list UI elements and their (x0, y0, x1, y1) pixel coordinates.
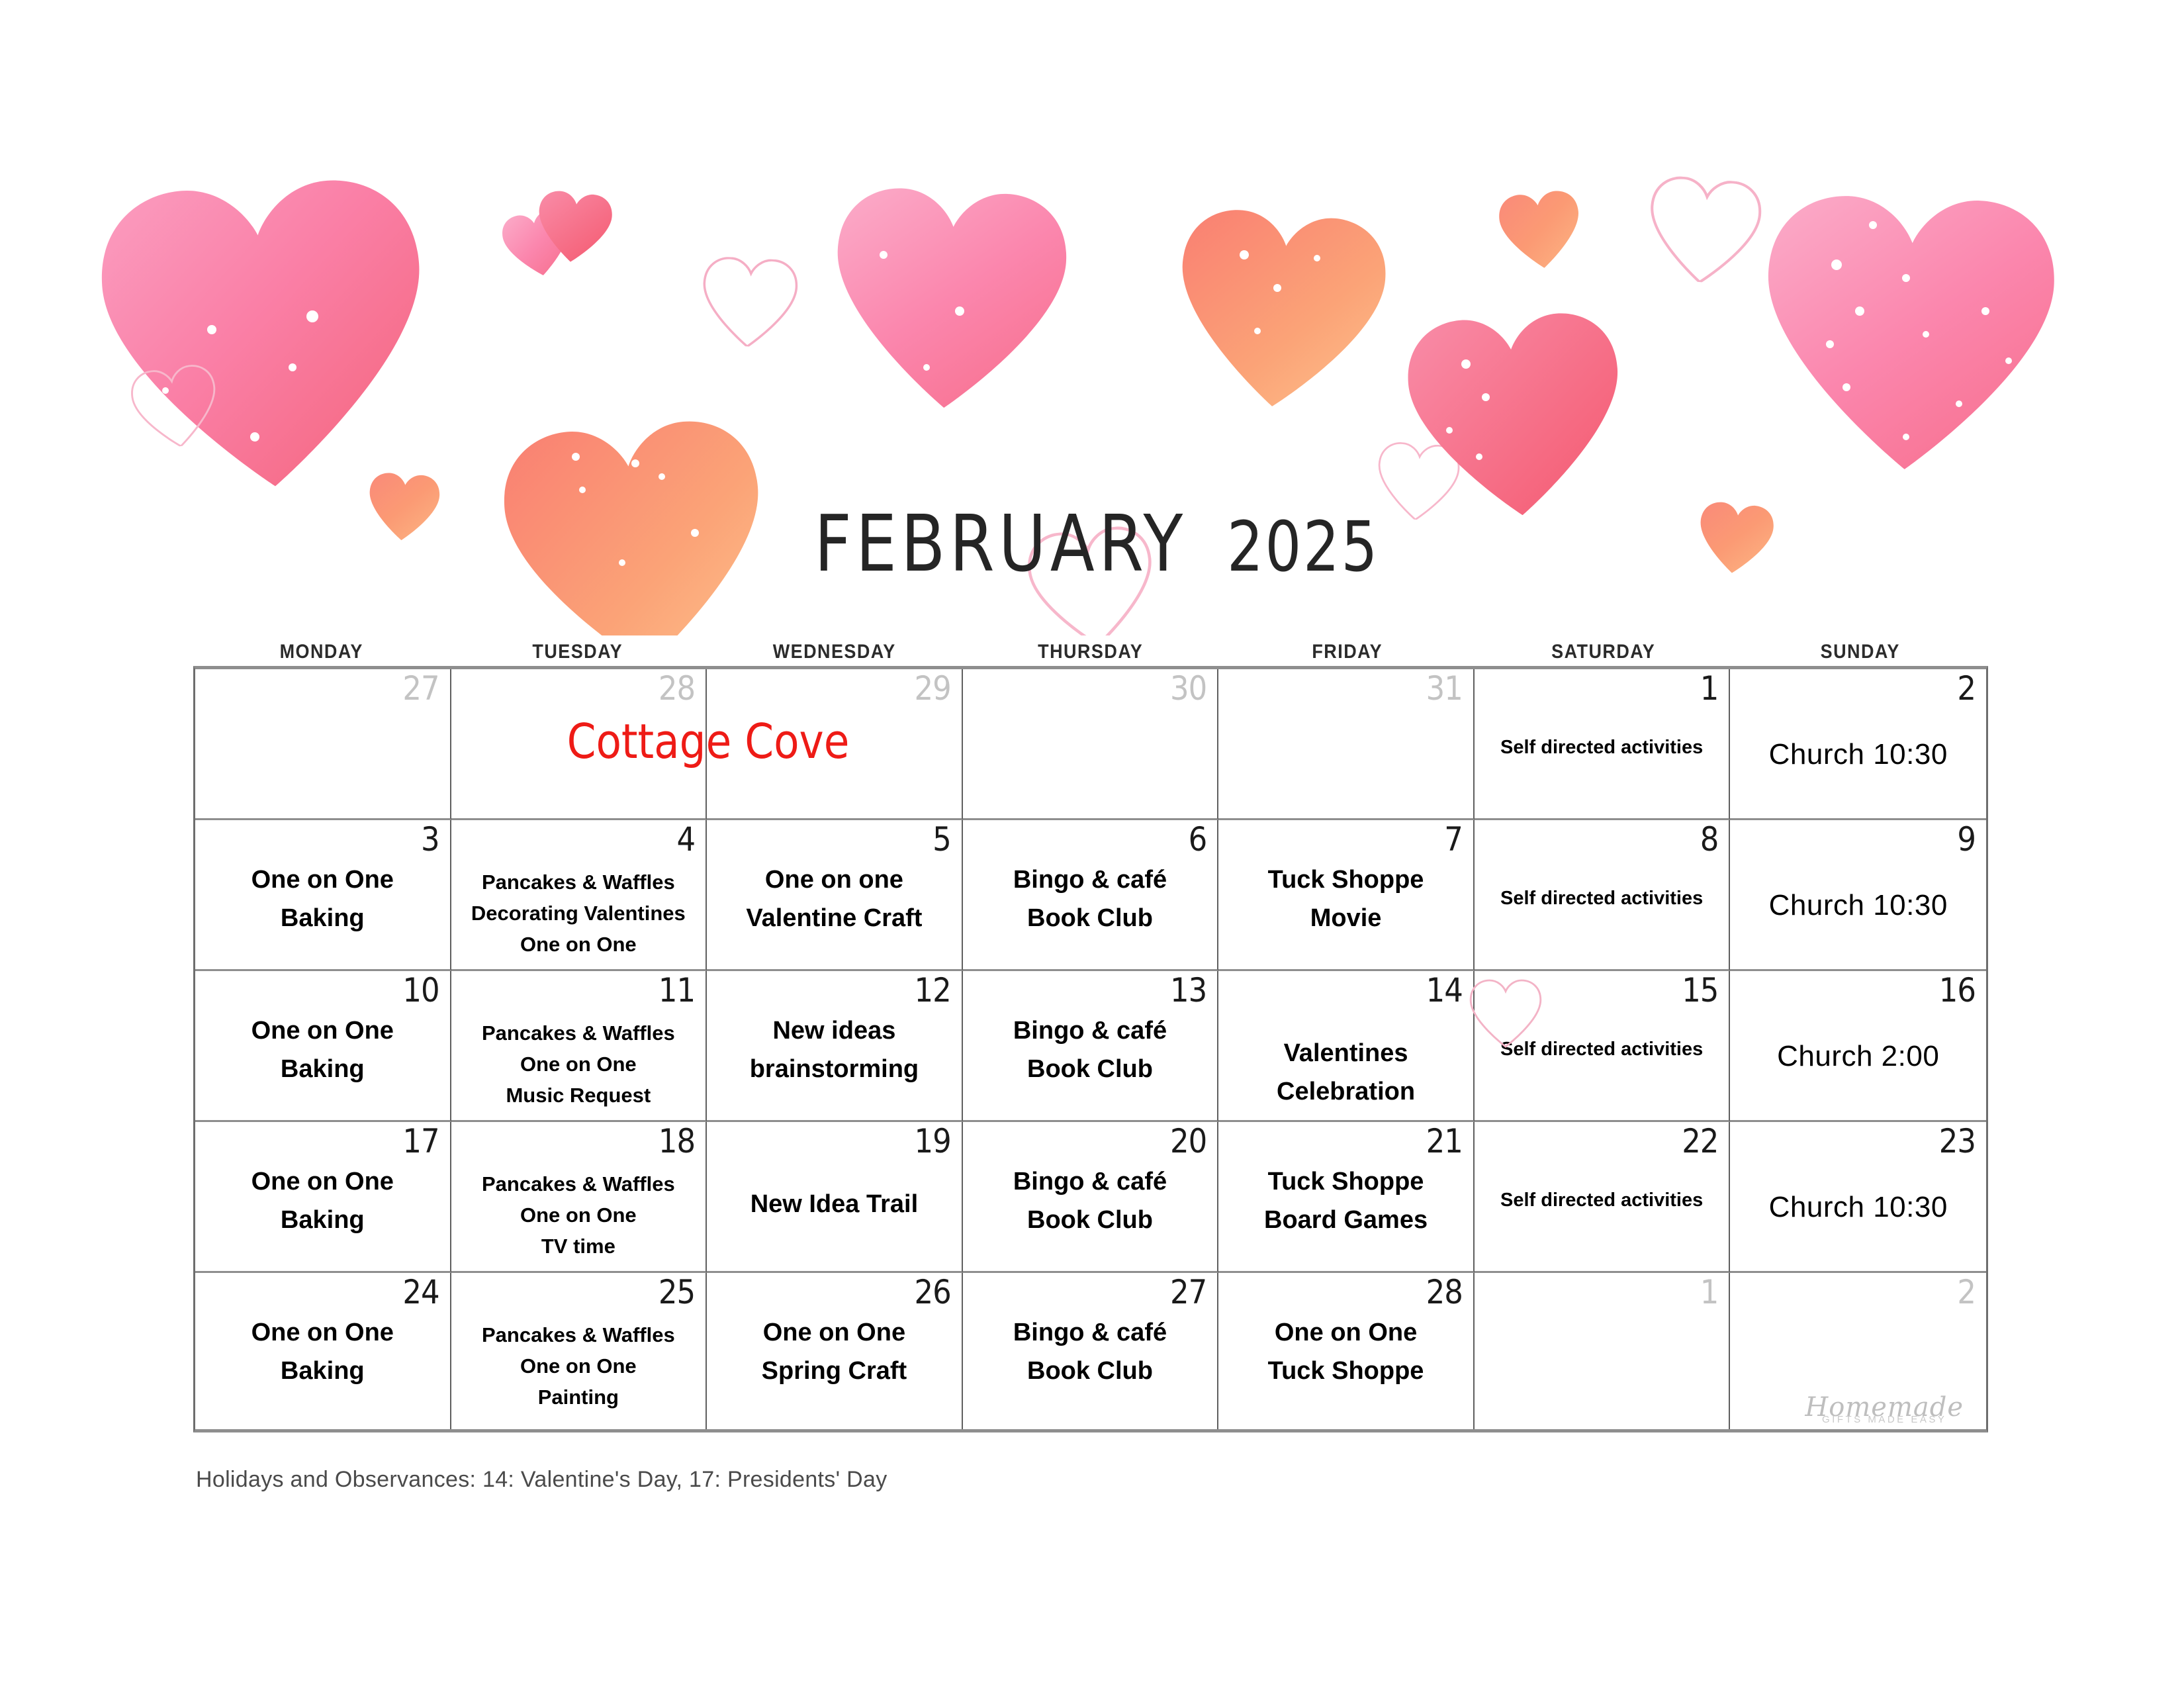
day-cell[interactable]: 21Tuck ShoppeBoard Games (1218, 1122, 1475, 1273)
day-cell[interactable]: 24One on OneBaking (195, 1273, 451, 1429)
day-cell[interactable]: 1 (1475, 1273, 1731, 1429)
day-events: Pancakes & WafflesOne on OneMusic Reques… (451, 1017, 706, 1111)
day-number: 20 (1170, 1125, 1206, 1158)
event-text: Decorating Valentines (451, 898, 706, 929)
day-number: 24 (402, 1276, 439, 1309)
day-events: One on oneValentine Craft (707, 861, 962, 938)
cottage-cove-label: Cottage Cove (484, 714, 933, 769)
day-cell[interactable]: 27Bingo & caféBook Club (963, 1273, 1219, 1429)
event-text: Church 10:30 (1730, 884, 1986, 928)
event-text: Bingo & café (963, 1163, 1218, 1201)
day-number: 5 (933, 823, 951, 856)
weekday-header-row: MONDAYTUESDAYWEDNESDAYTHURSDAYFRIDAYSATU… (193, 641, 1988, 663)
day-number: 21 (1426, 1125, 1463, 1158)
event-text: Tuck Shoppe (1218, 1163, 1473, 1201)
hearts-svg (0, 0, 2184, 635)
day-events: Bingo & caféBook Club (963, 1012, 1218, 1089)
day-events: Self directed activities (1475, 733, 1729, 762)
event-text: Book Club (963, 1352, 1218, 1391)
event-text: Baking (195, 1051, 450, 1089)
event-text: Book Club (963, 1201, 1218, 1240)
day-number: 2 (1957, 1276, 1976, 1309)
day-number: 25 (659, 1276, 695, 1309)
day-cell[interactable]: 18Pancakes & WafflesOne on OneTV time (451, 1122, 707, 1273)
holidays-observances-footer: Holidays and Observances: 14: Valentine'… (196, 1467, 887, 1493)
event-text: Self directed activities (1475, 1186, 1729, 1215)
event-text: Movie (1218, 900, 1473, 938)
day-cell[interactable]: 10One on OneBaking (195, 971, 451, 1122)
event-text: Church 10:30 (1730, 733, 1986, 777)
day-cell[interactable]: 17One on OneBaking (195, 1122, 451, 1273)
day-events: One on OneSpring Craft (707, 1314, 962, 1391)
day-cell[interactable]: 22Self directed activities (1475, 1122, 1731, 1273)
day-events: One on OneBaking (195, 1012, 450, 1089)
day-events: Pancakes & WafflesOne on OneTV time (451, 1168, 706, 1262)
day-events: Church 10:30 (1730, 733, 1986, 777)
event-text: One on One (195, 861, 450, 900)
day-cell[interactable]: 5One on oneValentine Craft (707, 820, 963, 971)
day-events: Church 2:00 (1730, 1035, 1986, 1079)
heart-banner-decoration (0, 0, 2184, 635)
event-text: Baking (195, 900, 450, 938)
day-cell[interactable]: 30 (963, 669, 1219, 820)
day-cell[interactable]: 12New ideasbrainstorming (707, 971, 963, 1122)
day-number: 14 (1426, 974, 1463, 1007)
day-cell[interactable]: 7Tuck ShoppeMovie (1218, 820, 1475, 971)
day-number: 9 (1957, 823, 1976, 856)
day-number: 2 (1957, 672, 1976, 705)
day-number: 4 (677, 823, 696, 856)
day-number: 3 (421, 823, 439, 856)
day-cell[interactable]: 28One on OneTuck Shoppe (1218, 1273, 1475, 1429)
day-events: Bingo & caféBook Club (963, 1314, 1218, 1391)
valentine-heart-icon (1469, 978, 1542, 1048)
day-number: 31 (1426, 672, 1463, 705)
event-text: New ideas (707, 1012, 962, 1051)
day-number: 17 (402, 1125, 439, 1158)
day-events: One on OneTuck Shoppe (1218, 1314, 1473, 1391)
day-events: Bingo & caféBook Club (963, 1163, 1218, 1240)
day-cell[interactable]: 19New Idea Trail (707, 1122, 963, 1273)
day-cell[interactable]: 1Self directed activities (1475, 669, 1731, 820)
day-number: 23 (1939, 1125, 1976, 1158)
day-events: New Idea Trail (707, 1186, 962, 1224)
homemade-gifts-watermark: HomemadeGIFTS MADE EASY (1805, 1394, 1964, 1425)
event-text: One on One (195, 1012, 450, 1051)
event-text: One on One (1218, 1314, 1473, 1352)
event-text: Valentines (1218, 1035, 1473, 1073)
event-text: Board Games (1218, 1201, 1473, 1240)
day-cell[interactable]: 26One on OneSpring Craft (707, 1273, 963, 1429)
event-text: Baking (195, 1352, 450, 1391)
event-text: New Idea Trail (707, 1186, 962, 1224)
day-events: Self directed activities (1475, 884, 1729, 913)
day-number: 28 (659, 672, 695, 705)
event-text: Pancakes & Waffles (451, 1168, 706, 1199)
event-text: Church 10:30 (1730, 1186, 1986, 1230)
event-text: Spring Craft (707, 1352, 962, 1391)
calendar-grid: 27282930311Self directed activities2Chur… (193, 666, 1988, 1432)
day-cell[interactable]: 4Pancakes & WafflesDecorating Valentines… (451, 820, 707, 971)
event-text: Tuck Shoppe (1218, 861, 1473, 900)
day-number: 15 (1682, 974, 1718, 1007)
event-text: One on One (451, 1049, 706, 1080)
calendar: MONDAYTUESDAYWEDNESDAYTHURSDAYFRIDAYSATU… (193, 641, 1988, 1432)
event-text: Painting (451, 1382, 706, 1413)
event-text: Valentine Craft (707, 900, 962, 938)
event-text: Music Request (451, 1080, 706, 1111)
day-events: Tuck ShoppeMovie (1218, 861, 1473, 938)
day-cell[interactable]: 3One on OneBaking (195, 820, 451, 971)
event-text: Pancakes & Waffles (451, 867, 706, 898)
day-events: Church 10:30 (1730, 1186, 1986, 1230)
weekday-header-tuesday: TUESDAY (463, 641, 694, 663)
watermark-subtitle: GIFTS MADE EASY (1805, 1414, 1964, 1425)
day-cell[interactable]: 14ValentinesCelebration (1218, 971, 1475, 1122)
weekday-header-thursday: THURSDAY (976, 641, 1206, 663)
day-cell[interactable]: 31 (1218, 669, 1475, 820)
day-events: Church 10:30 (1730, 884, 1986, 928)
event-text: Bingo & café (963, 1314, 1218, 1352)
event-text: One on One (195, 1314, 450, 1352)
day-events: Tuck ShoppeBoard Games (1218, 1163, 1473, 1240)
event-text: Self directed activities (1475, 884, 1729, 913)
day-cell[interactable]: 27 (195, 669, 451, 820)
day-events: Self directed activities (1475, 1186, 1729, 1215)
day-cell[interactable]: 23Church 10:30 (1730, 1122, 1986, 1273)
event-text: brainstorming (707, 1051, 962, 1089)
day-number: 30 (1170, 672, 1206, 705)
day-events: Pancakes & WafflesOne on OnePainting (451, 1319, 706, 1413)
event-text: One on One (451, 1199, 706, 1231)
event-text: Baking (195, 1201, 450, 1240)
event-text: Celebration (1218, 1073, 1473, 1111)
day-number: 1 (1700, 672, 1719, 705)
day-cell[interactable]: 11Pancakes & WafflesOne on OneMusic Requ… (451, 971, 707, 1122)
event-text: Book Club (963, 900, 1218, 938)
day-cell[interactable]: 16Church 2:00 (1730, 971, 1986, 1122)
day-events: ValentinesCelebration (1218, 1035, 1473, 1111)
event-text: Pancakes & Waffles (451, 1319, 706, 1350)
event-text: One on one (707, 861, 962, 900)
event-text: Book Club (963, 1051, 1218, 1089)
day-number: 28 (1426, 1276, 1463, 1309)
day-number: 16 (1939, 974, 1976, 1007)
day-cell[interactable]: 25Pancakes & WafflesOne on OnePainting (451, 1273, 707, 1429)
day-number: 10 (402, 974, 439, 1007)
heart-group (96, 175, 2057, 635)
weekday-header-friday: FRIDAY (1232, 641, 1463, 663)
event-text: Church 2:00 (1730, 1035, 1986, 1079)
day-cell[interactable]: 20Bingo & caféBook Club (963, 1122, 1219, 1273)
day-number: 13 (1170, 974, 1206, 1007)
day-events: One on OneBaking (195, 1314, 450, 1391)
day-number: 19 (914, 1125, 950, 1158)
day-number: 6 (1189, 823, 1207, 856)
day-number: 12 (914, 974, 950, 1007)
day-cell[interactable]: 2Church 10:30 (1730, 669, 1986, 820)
event-text: Tuck Shoppe (1218, 1352, 1473, 1391)
weekday-header-sunday: SUNDAY (1745, 641, 1976, 663)
day-number: 7 (1444, 823, 1463, 856)
day-cell[interactable]: 13Bingo & caféBook Club (963, 971, 1219, 1122)
weekday-header-wednesday: WEDNESDAY (719, 641, 950, 663)
day-events: One on OneBaking (195, 861, 450, 938)
day-number: 27 (402, 672, 439, 705)
day-number: 29 (914, 672, 950, 705)
day-number: 18 (659, 1125, 695, 1158)
event-text: One on One (195, 1163, 450, 1201)
event-text: TV time (451, 1231, 706, 1262)
day-cell[interactable]: 2HomemadeGIFTS MADE EASY (1730, 1273, 1986, 1429)
day-number: 22 (1682, 1125, 1718, 1158)
day-number: 11 (659, 974, 695, 1007)
event-text: One on One (451, 929, 706, 960)
day-number: 1 (1700, 1276, 1719, 1309)
day-events: One on OneBaking (195, 1163, 450, 1240)
event-text: Bingo & café (963, 861, 1218, 900)
event-text: Pancakes & Waffles (451, 1017, 706, 1049)
day-cell[interactable]: 9Church 10:30 (1730, 820, 1986, 971)
event-text: Self directed activities (1475, 733, 1729, 762)
day-cell[interactable]: 6Bingo & caféBook Club (963, 820, 1219, 971)
day-events: New ideasbrainstorming (707, 1012, 962, 1089)
weekday-header-monday: MONDAY (206, 641, 437, 663)
event-text: One on One (707, 1314, 962, 1352)
weekday-header-saturday: SATURDAY (1488, 641, 1719, 663)
event-text: One on One (451, 1350, 706, 1382)
day-number: 26 (914, 1276, 950, 1309)
event-text: Bingo & café (963, 1012, 1218, 1051)
day-events: Pancakes & WafflesDecorating ValentinesO… (451, 867, 706, 960)
day-number: 8 (1700, 823, 1719, 856)
day-number: 27 (1170, 1276, 1206, 1309)
day-cell[interactable]: 8Self directed activities (1475, 820, 1731, 971)
day-events: Bingo & caféBook Club (963, 861, 1218, 938)
